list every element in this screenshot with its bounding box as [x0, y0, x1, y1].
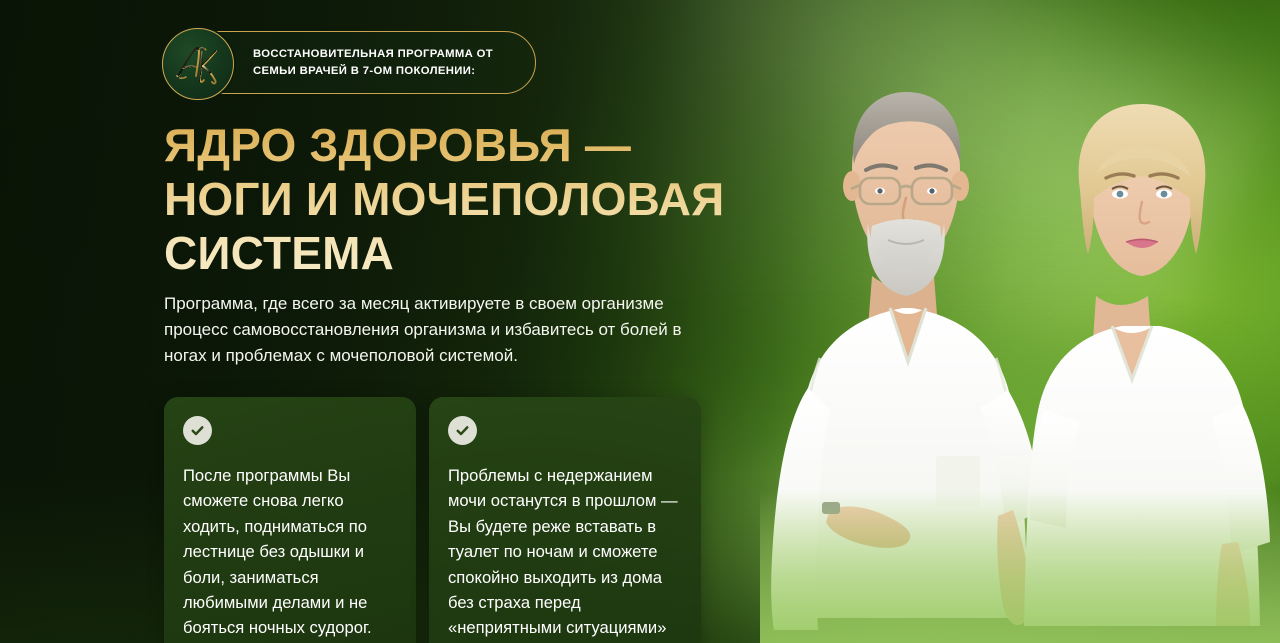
hero-banner: ВОССТАНОВИТЕЛЬНАЯ ПРОГРАММА ОТ СЕМЬИ ВРА… [0, 0, 1280, 643]
brand-logo [162, 28, 234, 100]
program-badge: ВОССТАНОВИТЕЛЬНАЯ ПРОГРАММА ОТ СЕМЬИ ВРА… [164, 31, 536, 94]
benefit-card: Проблемы с недержанием мочи останутся в … [429, 397, 701, 643]
benefit-card: После программы Вы сможете снова легко х… [164, 397, 416, 643]
check-circle-icon [183, 416, 212, 445]
page-title: ЯДРО ЗДОРОВЬЯ — НОГИ И МОЧЕПОЛОВАЯ СИСТЕ… [164, 118, 764, 280]
benefit-card-text: После программы Вы сможете снова легко х… [183, 463, 396, 641]
doctors-photo [760, 58, 1280, 643]
program-badge-text: ВОССТАНОВИТЕЛЬНАЯ ПРОГРАММА ОТ СЕМЬИ ВРА… [253, 46, 535, 79]
benefit-card-text: Проблемы с недержанием мочи останутся в … [448, 463, 681, 641]
lead-paragraph: Программа, где всего за месяц активирует… [164, 291, 688, 369]
monogram-ak-icon [172, 38, 224, 90]
benefit-cards: После программы Вы сможете снова легко х… [164, 397, 701, 643]
hero-content: ВОССТАНОВИТЕЛЬНАЯ ПРОГРАММА ОТ СЕМЬИ ВРА… [164, 0, 784, 643]
check-circle-icon [448, 416, 477, 445]
